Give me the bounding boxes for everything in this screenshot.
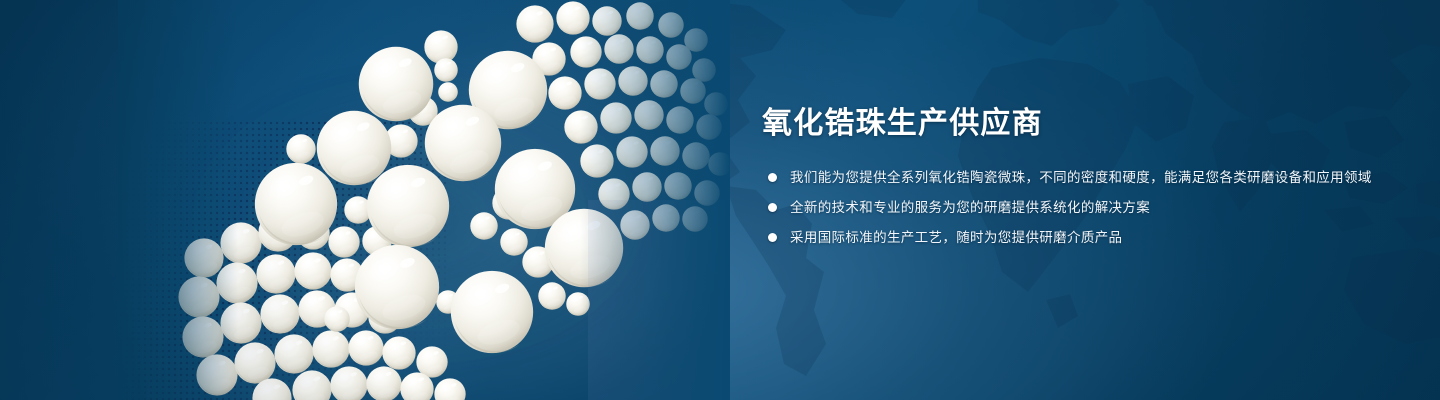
- zirconia-beads-photo: [118, 0, 730, 400]
- list-item: 全新的技术和专业的服务为您的研磨提供系统化的解决方案: [762, 196, 1402, 219]
- list-item-label: 我们能为您提供全系列氧化锆陶瓷微珠，不同的密度和硬度，能满足您各类研磨设备和应用…: [790, 170, 1372, 185]
- list-item-label: 全新的技术和专业的服务为您的研磨提供系统化的解决方案: [790, 200, 1150, 215]
- bullet-dot-icon: [768, 173, 777, 182]
- list-item: 采用国际标准的生产工艺，随时为您提供研磨介质产品: [762, 226, 1402, 249]
- banner-headline: 氧化锆珠生产供应商: [762, 104, 1402, 144]
- list-item-label: 采用国际标准的生产工艺，随时为您提供研磨介质产品: [790, 230, 1122, 245]
- photo-right-fade: [580, 0, 730, 400]
- hero-banner: 氧化锆珠生产供应商 我们能为您提供全系列氧化锆陶瓷微珠，不同的密度和硬度，能满足…: [0, 0, 1440, 400]
- banner-copy: 氧化锆珠生产供应商 我们能为您提供全系列氧化锆陶瓷微珠，不同的密度和硬度，能满足…: [762, 104, 1402, 249]
- photo-left-fade: [118, 0, 238, 400]
- bullet-dot-icon: [768, 203, 777, 212]
- list-item: 我们能为您提供全系列氧化锆陶瓷微珠，不同的密度和硬度，能满足您各类研磨设备和应用…: [762, 166, 1402, 189]
- banner-feature-list: 我们能为您提供全系列氧化锆陶瓷微珠，不同的密度和硬度，能满足您各类研磨设备和应用…: [762, 166, 1402, 249]
- bullet-dot-icon: [768, 233, 777, 242]
